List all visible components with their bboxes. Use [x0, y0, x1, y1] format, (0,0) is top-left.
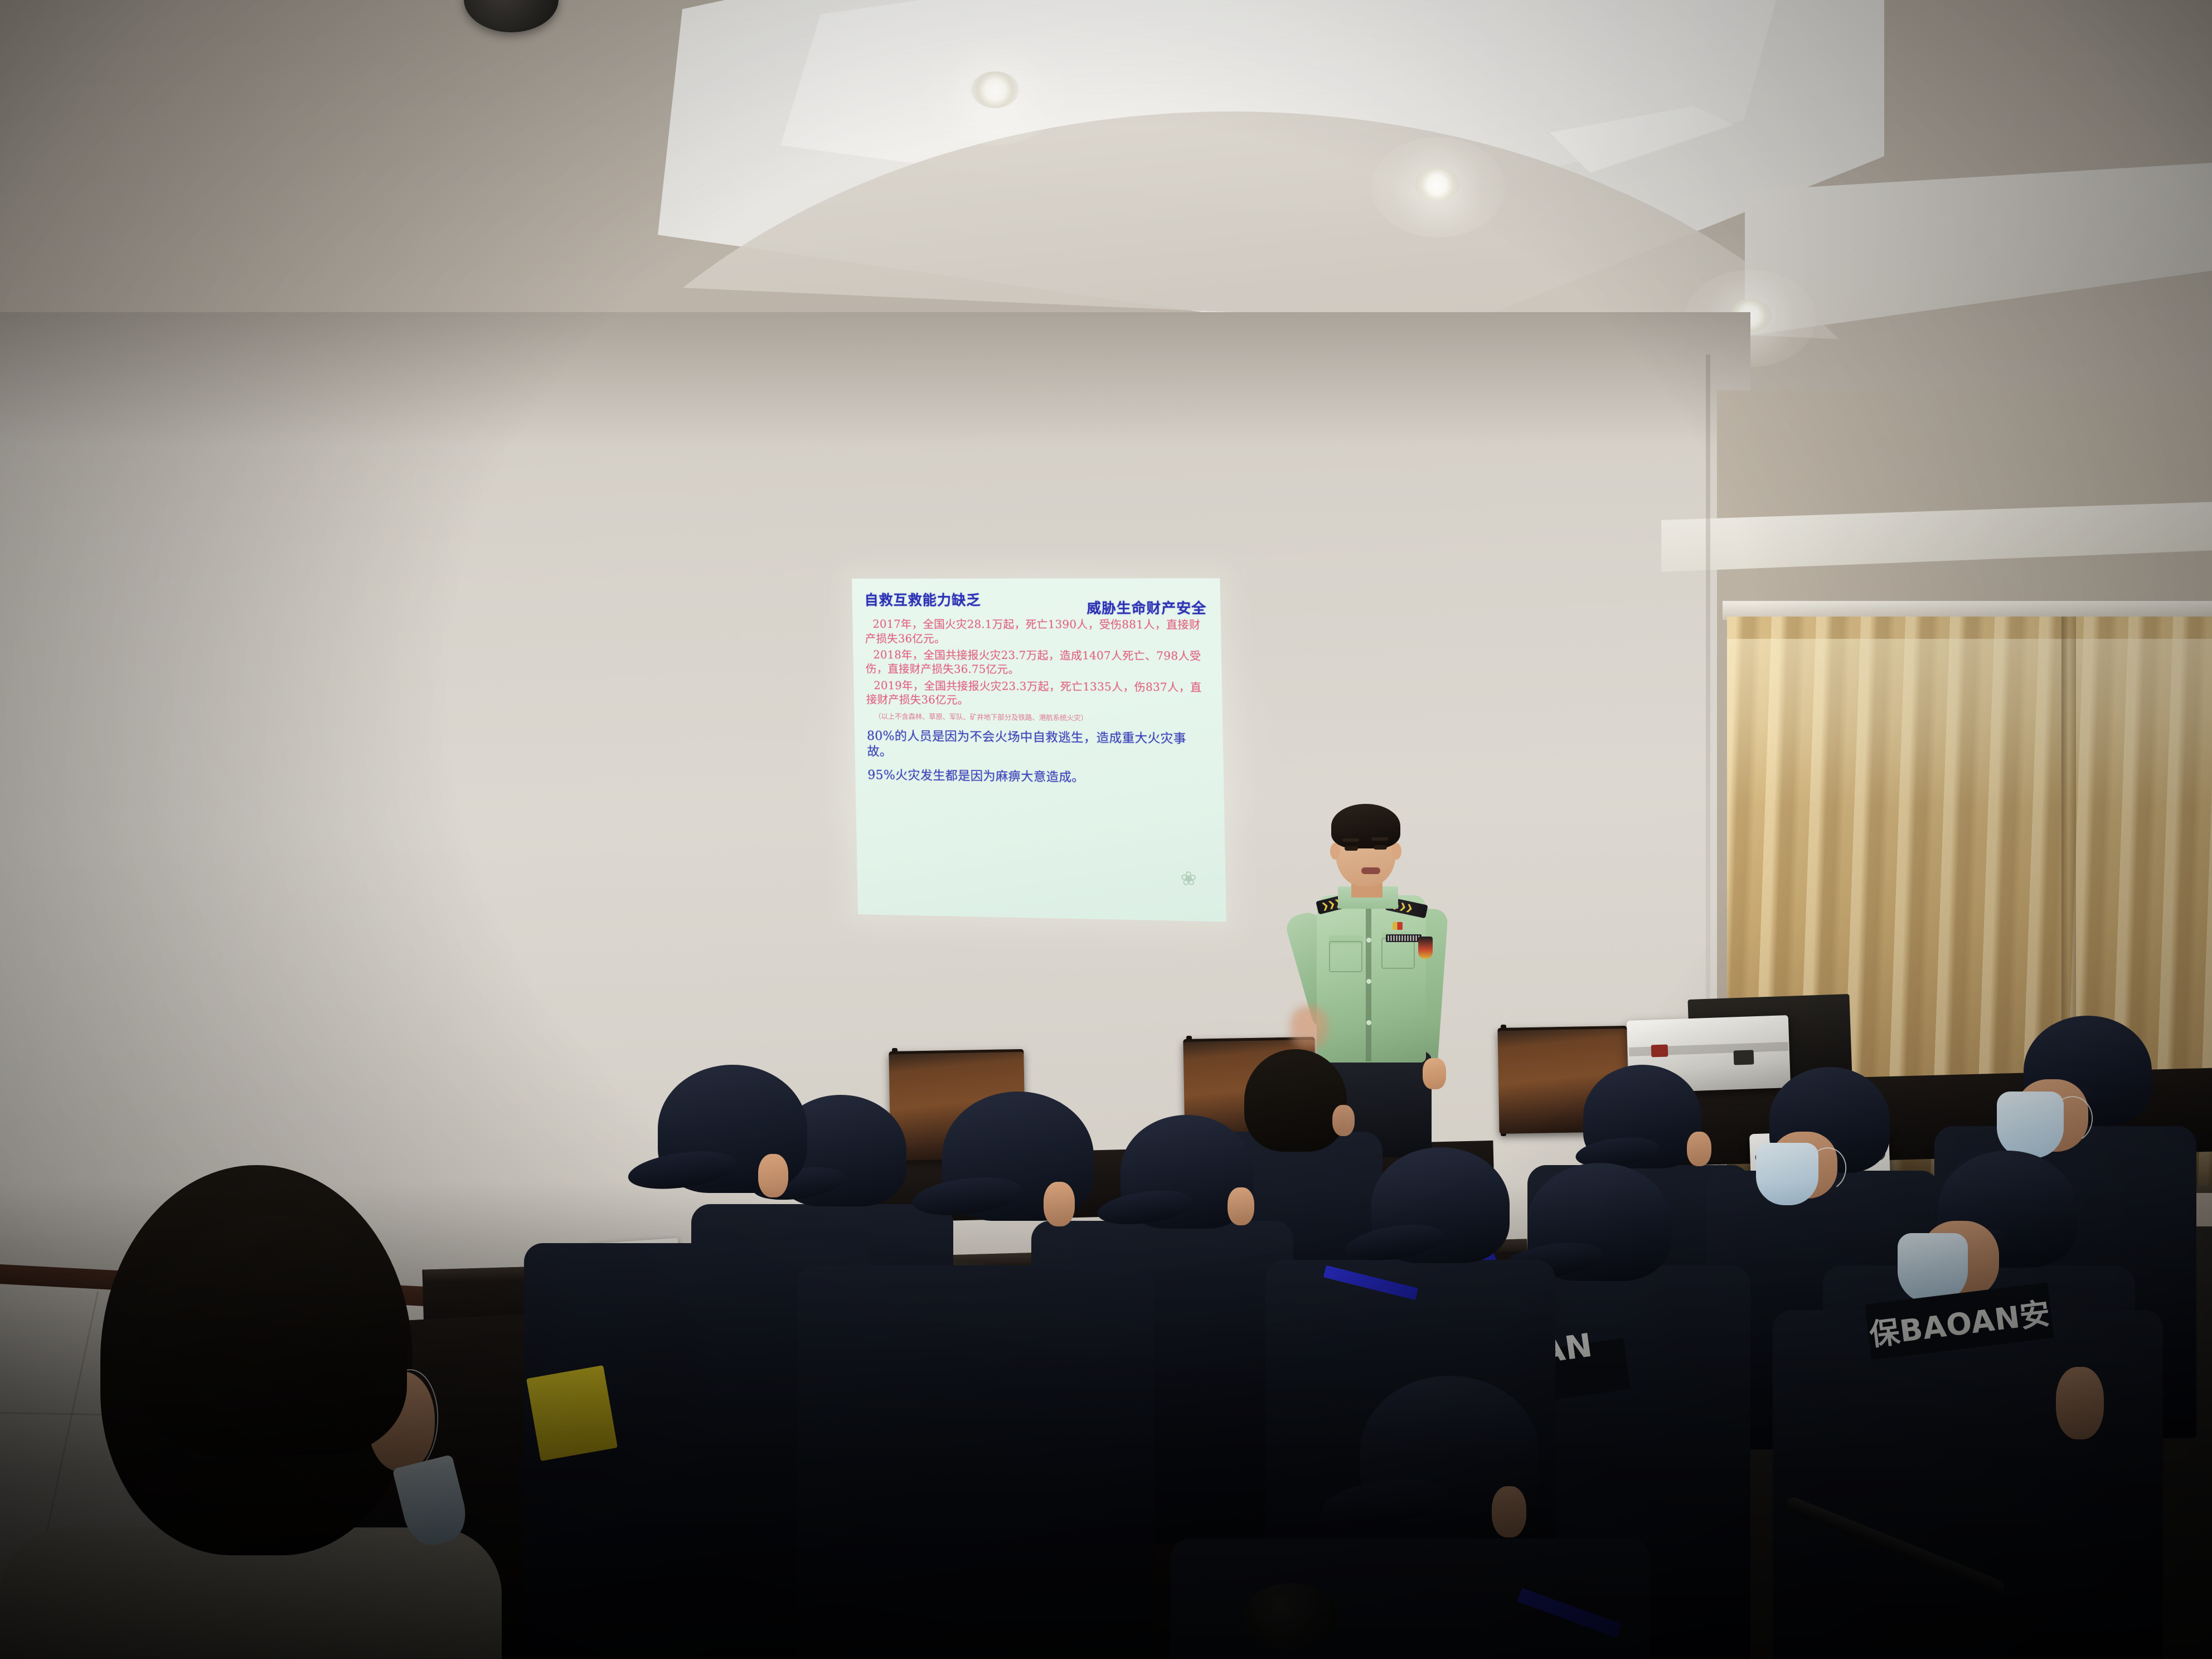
- audience-torso: [797, 1265, 1154, 1659]
- presenter-hair: [1331, 804, 1400, 848]
- presenter-eyebrow-right: [1371, 837, 1388, 841]
- presenter-left-hand-motion-blur: [1290, 1006, 1328, 1048]
- presenter-right-hand: [1423, 1058, 1446, 1089]
- presenter-nameplate-text: [1388, 935, 1420, 941]
- presenter-eye-left: [1345, 846, 1358, 851]
- slide-stat-2018: 2018年，全国共接报火灾23.7万起，造成1407人死亡、798人受伤，直接财…: [865, 648, 1210, 678]
- ceiling-downlight-1: [971, 71, 1019, 108]
- training-room-photo: 自救互救能力缺乏 威胁生命财产安全 2017年，全国火灾28.1万起，死亡139…: [0, 0, 2212, 1659]
- audience-ear: [758, 1154, 788, 1197]
- presenter-button: [1366, 938, 1371, 943]
- slide-title-left: 自救互救能力缺乏: [864, 593, 981, 608]
- audience-armband: [526, 1365, 618, 1461]
- presenter-chest-pocket-left: [1329, 941, 1362, 972]
- presenter-button: [1366, 979, 1371, 984]
- audience-ear: [1044, 1182, 1075, 1226]
- ceiling-downlight-2: [1415, 167, 1459, 202]
- presenter-ear-left: [1330, 843, 1340, 860]
- presenter-shoulder-patch: [1418, 937, 1433, 959]
- presenter-chest-pocket-right: [1381, 938, 1415, 969]
- presenter-uniform-shirt: [1317, 895, 1426, 1063]
- audience-ear: [1687, 1132, 1711, 1166]
- audience-hand: [2056, 1367, 2104, 1439]
- slide-footnote: （以上不含森林、草原、军队、矿井地下部分及铁路、港航系统火灾）: [874, 712, 1211, 724]
- presenter-eye-right: [1374, 845, 1387, 850]
- audience-ear: [1228, 1187, 1254, 1225]
- presenter-button: [1366, 1020, 1371, 1025]
- slide-stat-2019: 2019年，全国共接报火灾23.3万起，死亡1335人，伤837人，直接财产损失…: [866, 678, 1211, 709]
- audience-ear: [1332, 1105, 1355, 1136]
- slide-title: 自救互救能力缺乏 威胁生命财产安全: [864, 593, 1209, 616]
- presenter-eyebrow-left: [1342, 838, 1359, 842]
- equipment-case-latch[interactable]: [1734, 1050, 1754, 1065]
- slide-emphasis-80: 80%的人员是因为不会火场中自救逃生，造成重大火灾事故。: [867, 729, 1212, 764]
- audience-ear: [1492, 1486, 1526, 1537]
- presenter-ear-right: [1391, 843, 1401, 860]
- audience-head: [1244, 1049, 1347, 1152]
- slide-corner-logo: ❀: [1180, 871, 1215, 913]
- presenter-lapel-badge: [1393, 922, 1403, 930]
- slide-stat-2017: 2017年，全国火灾28.1万起，死亡1390人，受伤881人，直接财产损失36…: [865, 617, 1210, 647]
- curtain-highlight: [1727, 639, 2212, 806]
- projected-slide: 自救互救能力缺乏 威胁生命财产安全 2017年，全国火灾28.1万起，死亡139…: [852, 578, 1226, 921]
- microphone-head[interactable]: [1243, 1583, 1338, 1650]
- audience-torso: [1171, 1539, 1650, 1659]
- audience-torso: [1773, 1310, 2163, 1659]
- audience-head: [139, 1215, 407, 1455]
- wall-top-shadow: [0, 312, 1750, 446]
- equipment-case-latch-red[interactable]: [1651, 1044, 1668, 1057]
- slide-title-right: 威胁生命财产安全: [1086, 601, 1206, 616]
- presenter-mouth: [1361, 867, 1380, 874]
- slide-emphasis-95: 95%火灾发生都是因为麻痹大意造成。: [867, 768, 1212, 787]
